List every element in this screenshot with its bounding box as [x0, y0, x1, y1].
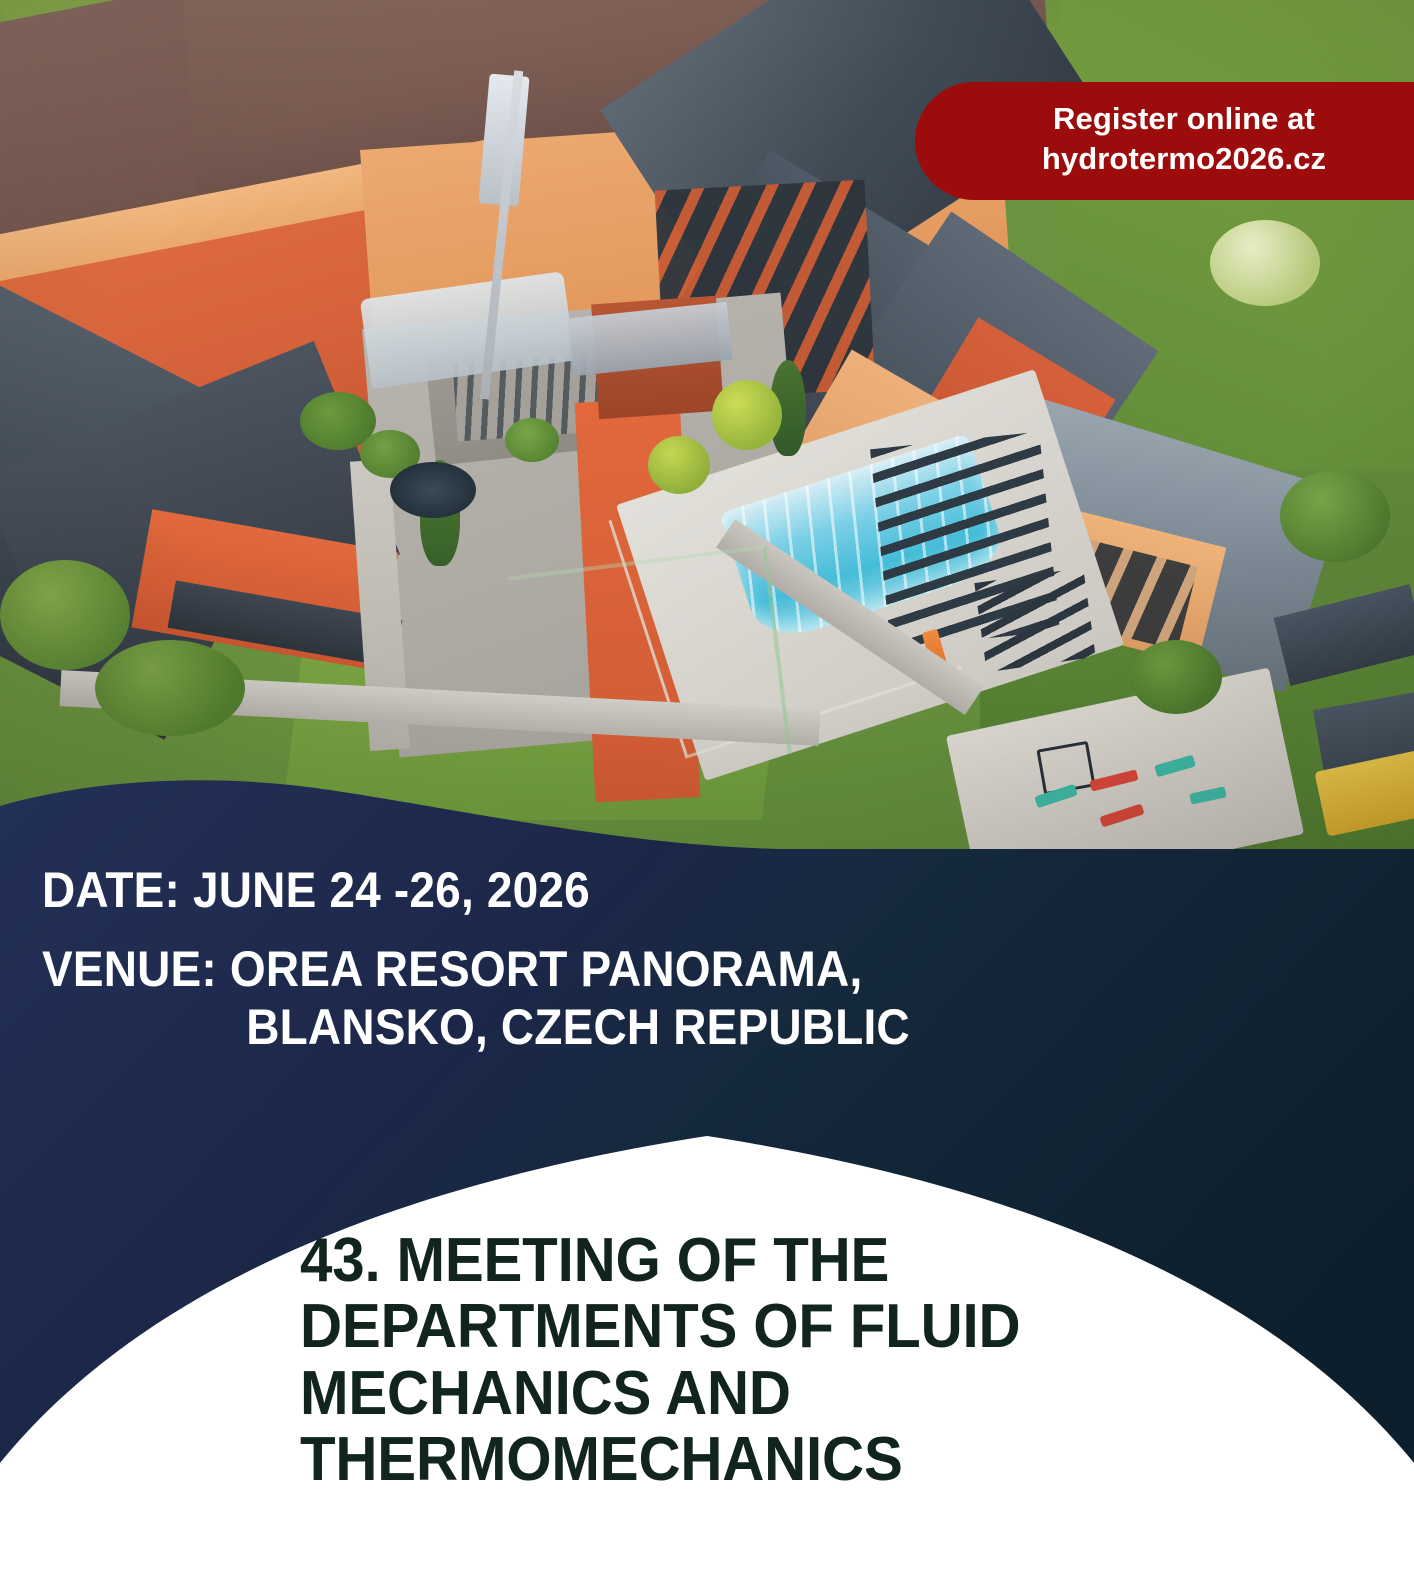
- page-title: 43. MEETING OF THE DEPARTMENTS OF FLUID …: [300, 1228, 1231, 1493]
- event-venue: VENUE: OREA RESORT PANORAMA, BLANSKO, CZ…: [42, 940, 1082, 1056]
- page-title-line-1: 43. MEETING OF THE: [300, 1228, 1231, 1294]
- event-venue-line-1: VENUE: OREA RESORT PANORAMA,: [42, 941, 862, 997]
- event-date: DATE: JUNE 24 -26, 2026: [42, 862, 1082, 918]
- page-title-line-2: DEPARTMENTS OF FLUID: [300, 1294, 1231, 1360]
- conference-poster: Register online at hydrotermo2026.cz: [0, 0, 1414, 1577]
- event-venue-line-2: BLANSKO, CZECH REPUBLIC: [42, 998, 1082, 1056]
- page-title-line-3: MECHANICS AND: [300, 1361, 1231, 1427]
- event-details: DATE: JUNE 24 -26, 2026 VENUE: OREA RESO…: [42, 862, 1172, 1056]
- page-title-line-4: THERMOMECHANICS: [300, 1427, 1231, 1493]
